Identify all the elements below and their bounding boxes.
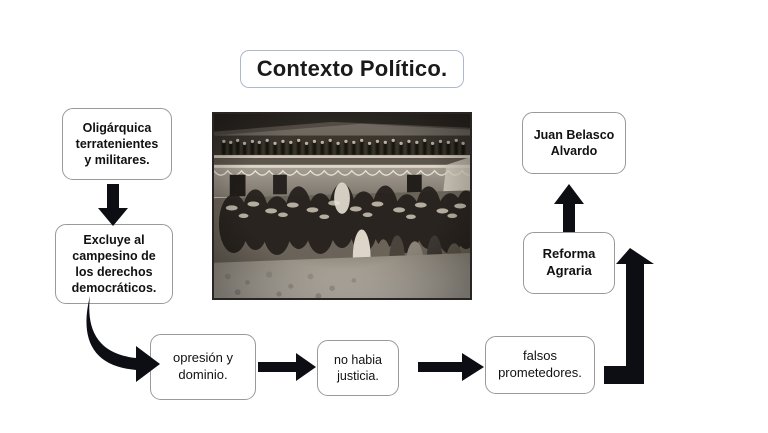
node-opresion-line: opresión y (173, 350, 233, 367)
arrow-right-icon (258, 352, 316, 382)
node-excluye-line: los derechos (72, 264, 157, 280)
node-falsos-line: falsos (498, 348, 582, 365)
node-falsos-label: falsosprometedores. (498, 348, 582, 381)
node-juan-label: Juan BelascoAlvardo (534, 127, 615, 159)
node-juan-line: Juan Belasco (534, 127, 615, 143)
node-opresion-label: opresión ydominio. (173, 350, 233, 383)
node-juan-belasco-alvardo[interactable]: Juan BelascoAlvardo (522, 112, 626, 174)
node-excluye-line: democráticos. (72, 280, 157, 296)
historical-crowd-photograph (212, 112, 472, 300)
node-oligarquica-line: terratenientes (76, 136, 159, 152)
node-oligarquica-line: Oligárquica (76, 120, 159, 136)
node-oligarquica-line: y militares. (76, 152, 159, 168)
node-excluye-label: Excluye alcampesino delos derechosdemocr… (72, 232, 157, 296)
node-justicia-label: no habiajusticia. (334, 352, 382, 384)
node-oligarquica[interactable]: Oligárquicaterratenientesy militares. (62, 108, 172, 180)
node-reforma-line: Reforma (543, 246, 596, 263)
node-reforma-line: Agraria (543, 263, 596, 280)
node-no-habia-justicia[interactable]: no habiajusticia. (317, 340, 399, 396)
node-oligarquica-label: Oligárquicaterratenientesy militares. (76, 120, 159, 168)
arrow-up-icon (552, 184, 586, 232)
arrow-right-icon (418, 352, 484, 382)
node-opresion-line: dominio. (173, 367, 233, 384)
node-excluye-line: Excluye al (72, 232, 157, 248)
node-juan-line: Alvardo (534, 143, 615, 159)
arrow-down-icon (96, 184, 130, 226)
node-reforma-label: ReformaAgraria (543, 246, 596, 279)
node-excluye-line: campesino de (72, 248, 157, 264)
node-falsos-line: prometedores. (498, 365, 582, 382)
slide-canvas: Contexto Político. (0, 0, 768, 433)
arrow-curved-down-right-icon (84, 296, 162, 382)
node-justicia-line: justicia. (334, 368, 382, 384)
node-falsos-prometedores[interactable]: falsosprometedores. (485, 336, 595, 394)
photograph-artwork (214, 114, 470, 298)
page-title-box: Contexto Político. (240, 50, 464, 88)
node-opresion[interactable]: opresión ydominio. (150, 334, 256, 400)
node-excluye[interactable]: Excluye alcampesino delos derechosdemocr… (55, 224, 173, 304)
node-justicia-line: no habia (334, 352, 382, 368)
arrow-elbow-up-left-icon (604, 248, 666, 384)
page-title: Contexto Político. (257, 56, 448, 82)
node-reforma-agraria[interactable]: ReformaAgraria (523, 232, 615, 294)
